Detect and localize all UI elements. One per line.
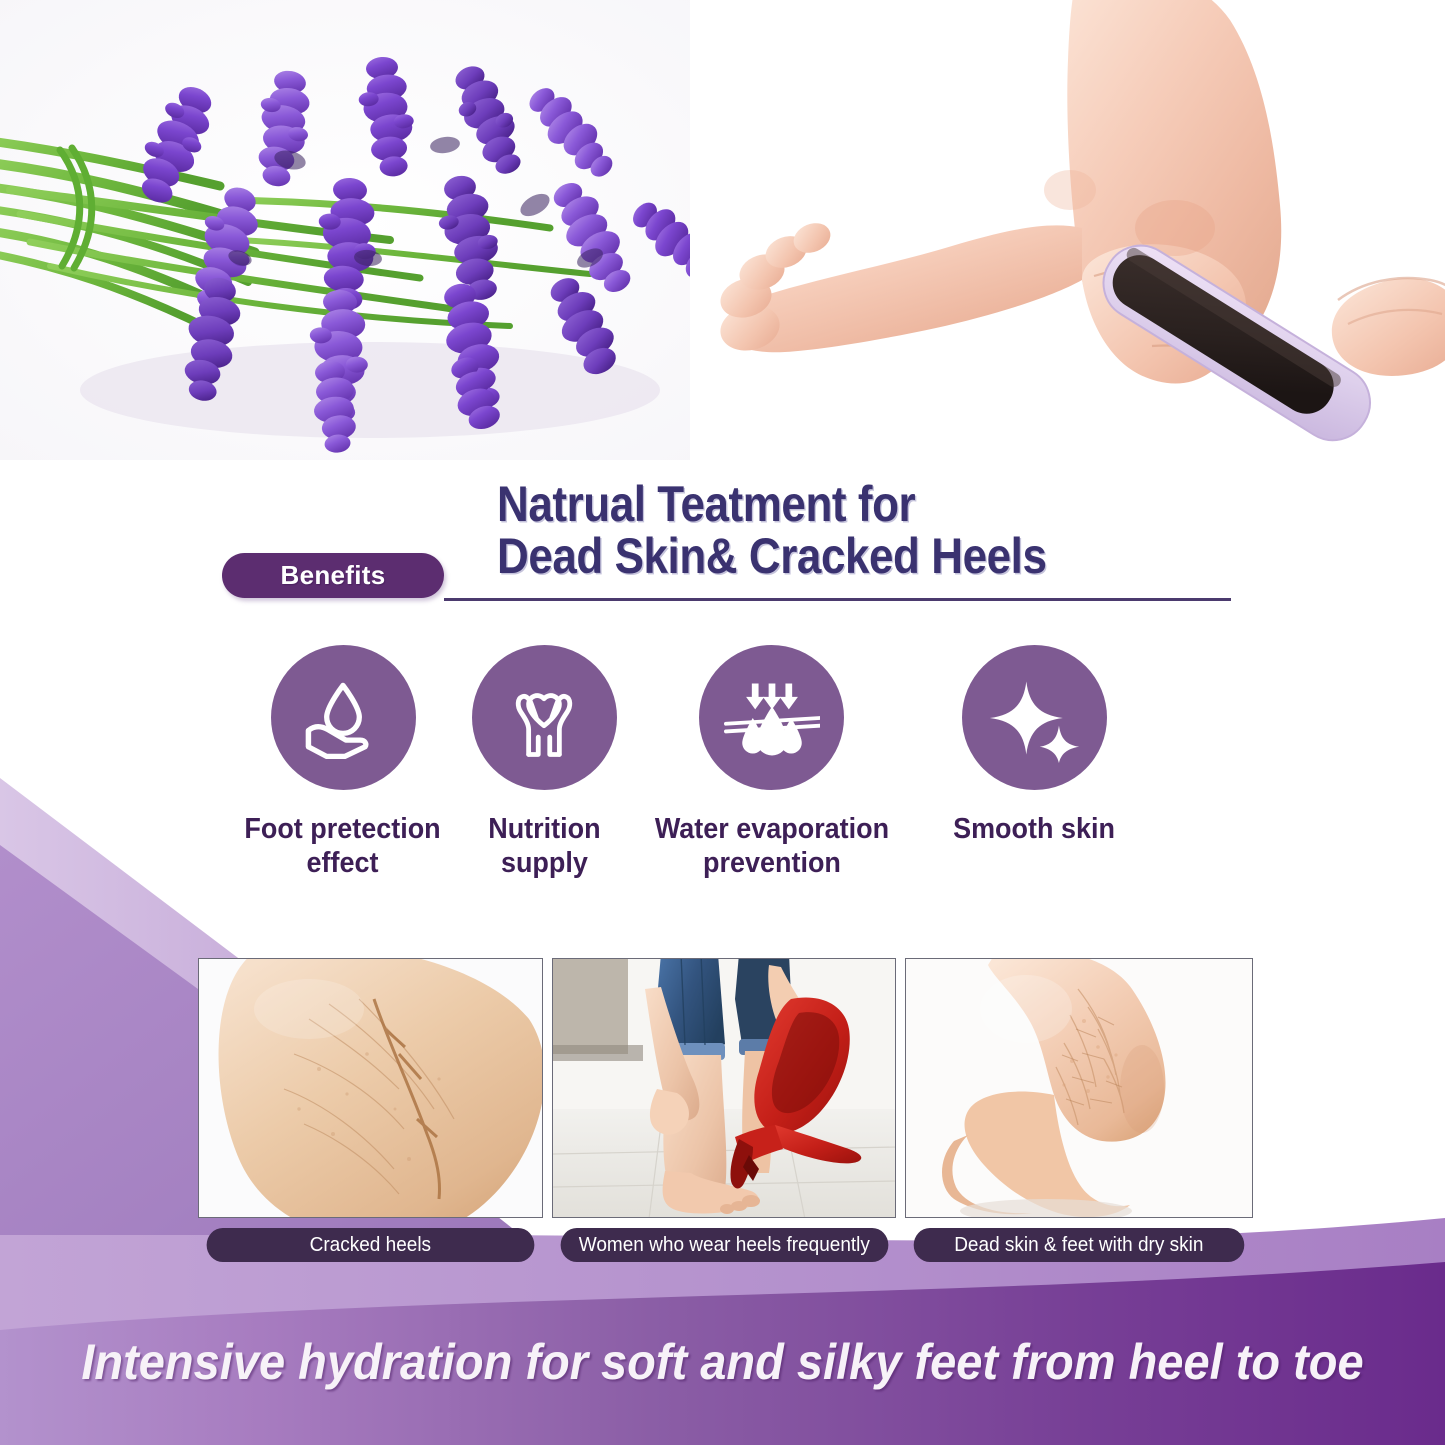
water-absorption-icon xyxy=(724,670,820,766)
foot-file-photo xyxy=(690,0,1445,500)
photo-caption-text: Women who wear heels frequently xyxy=(578,1234,869,1257)
benefit-label: Foot pretection effect xyxy=(245,812,441,880)
benefit-item-smooth-skin: Smooth skin xyxy=(909,645,1159,846)
benefit-label-line-2: prevention xyxy=(703,847,841,879)
cracked-heel-closeup-photo xyxy=(198,958,543,1218)
sparkle-icon xyxy=(986,670,1082,766)
benefit-icon-circle xyxy=(962,645,1107,790)
tagline: Intensive hydration for soft and silky f… xyxy=(43,1322,1401,1402)
benefit-label-line-2: supply xyxy=(501,847,588,879)
benefit-label-line-1: Water evaporation xyxy=(654,813,888,845)
lavender-bouquet-photo xyxy=(0,0,730,460)
dry-heel-photo xyxy=(905,958,1253,1218)
woman-high-heels-photo xyxy=(552,958,897,1218)
benefits-badge-label: Benefits xyxy=(281,560,386,591)
photo-caption: Cracked heels xyxy=(207,1228,534,1262)
photo-caption: Dead skin & feet with dry skin xyxy=(914,1228,1244,1262)
benefit-label: Smooth skin xyxy=(953,812,1115,846)
photo-caption: Women who wear heels frequently xyxy=(560,1228,887,1262)
headline-line-2: Dead Skin& Cracked Heels xyxy=(497,530,1046,582)
benefits-list: Foot pretection effect Nutrition xyxy=(232,645,1192,945)
benefit-item-water-evaporation: Water evaporation prevention xyxy=(634,645,909,880)
benefit-label-line-1: Nutrition xyxy=(488,813,600,845)
headline-line-1: Natrual Teatment for xyxy=(497,476,915,532)
benefit-icon-circle xyxy=(472,645,617,790)
benefit-label-line-2: effect xyxy=(307,847,379,879)
droplet-in-hand-icon xyxy=(295,670,391,766)
product-infographic: Natrual Teatment for Dead Skin& Cracked … xyxy=(0,0,1445,1445)
photo-caption-text: Cracked heels xyxy=(310,1234,431,1257)
header-divider xyxy=(444,598,1231,601)
benefit-label-line-1: Foot pretection xyxy=(245,813,441,845)
photo-caption-text: Dead skin & feet with dry skin xyxy=(955,1234,1204,1257)
photo-captions: Cracked heels Women who wear heels frequ… xyxy=(198,1228,1253,1262)
benefit-label: Nutrition supply xyxy=(488,812,600,880)
benefit-label: Water evaporation prevention xyxy=(654,812,888,880)
photo-strip xyxy=(198,958,1253,1218)
page-title: Natrual Teatment for Dead Skin& Cracked … xyxy=(497,478,1046,582)
benefit-label-line-1: Smooth skin xyxy=(953,813,1115,845)
benefit-icon-circle xyxy=(699,645,844,790)
benefits-badge: Benefits xyxy=(222,553,444,598)
benefit-icon-circle xyxy=(271,645,416,790)
benefit-item-nutrition: Nutrition supply xyxy=(454,645,634,880)
heart-in-hands-icon xyxy=(496,670,592,766)
benefit-item-foot-protection: Foot pretection effect xyxy=(232,645,454,880)
